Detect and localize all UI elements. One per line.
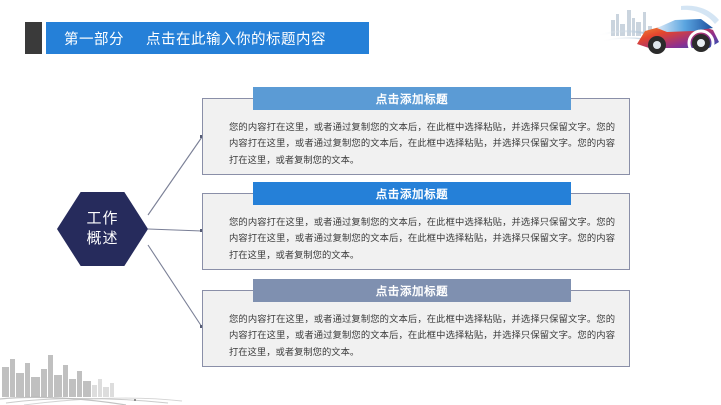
city-skyline-graphic — [0, 343, 185, 405]
content-box-header[interactable]: 点击添加标题 — [253, 279, 571, 302]
slide-header: 第一部分 点击在此输入你的标题内容 — [25, 22, 369, 54]
header-title-bar[interactable]: 第一部分 点击在此输入你的标题内容 — [46, 22, 369, 54]
content-box-header-label: 点击添加标题 — [376, 283, 449, 299]
race-car-skyline-graphic — [597, 0, 721, 58]
hexagon-node-work-overview[interactable]: 工作 概述 — [57, 192, 148, 266]
hexagon-label-line-2: 概述 — [86, 229, 118, 249]
content-box-header-label: 点击添加标题 — [376, 91, 449, 107]
hexagon-label-line-1: 工作 — [86, 209, 118, 229]
header-part-label: 第一部分 — [46, 28, 124, 49]
content-box[interactable]: 点击添加标题 您的内容打在这里，或者通过复制您的文本后，在此框中选择粘贴，并选择… — [202, 98, 630, 175]
content-box[interactable]: 点击添加标题 您的内容打在这里，或者通过复制您的文本后，在此框中选择粘贴，并选择… — [202, 290, 630, 367]
header-accent-square — [25, 22, 42, 54]
content-box[interactable]: 点击添加标题 您的内容打在这里，或者通过复制您的文本后，在此框中选择粘贴，并选择… — [202, 193, 630, 270]
content-box-header[interactable]: 点击添加标题 — [253, 87, 571, 110]
page-title: 点击在此输入你的标题内容 — [124, 28, 326, 49]
content-box-header-label: 点击添加标题 — [376, 186, 449, 202]
content-box-header[interactable]: 点击添加标题 — [253, 182, 571, 205]
